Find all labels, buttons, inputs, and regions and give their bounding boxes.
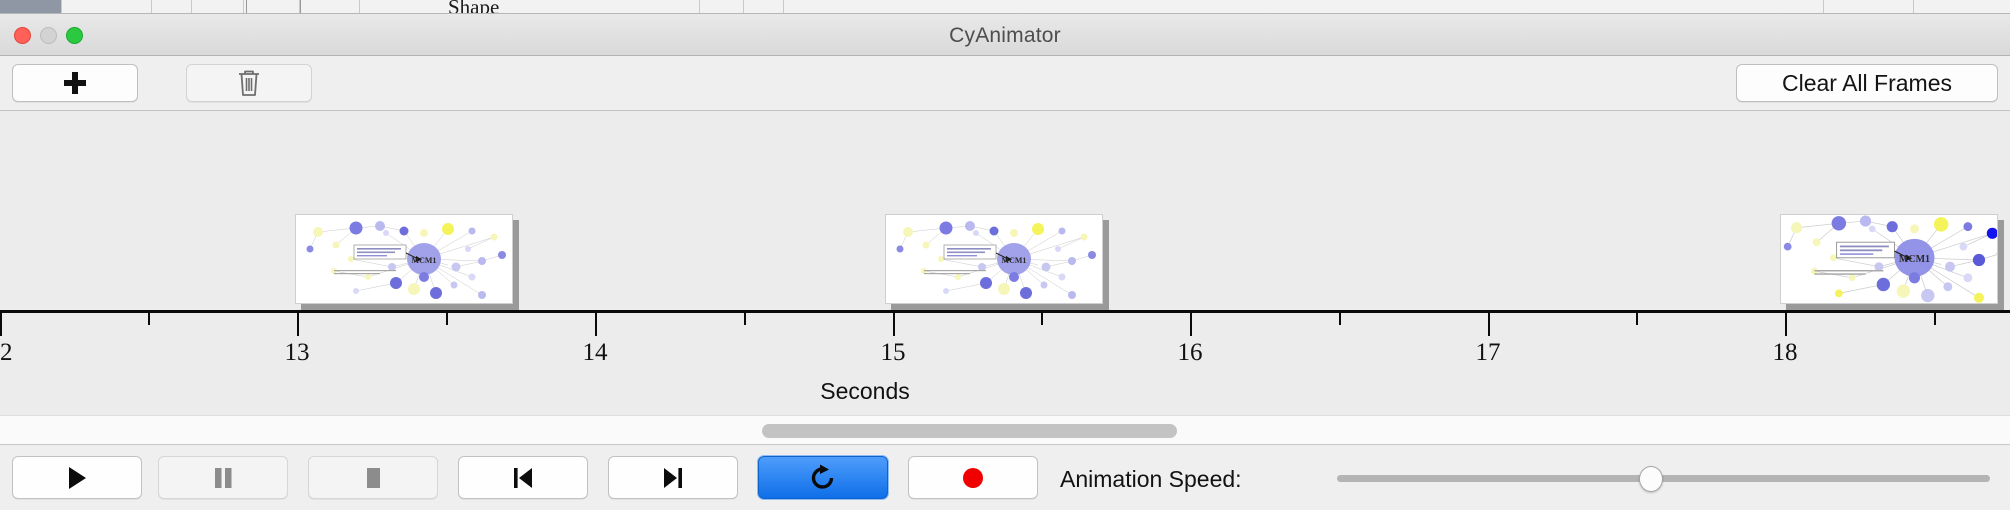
delete-frame-button[interactable] [186, 64, 312, 102]
frame-toolbar: Clear All Frames [0, 56, 2010, 111]
ruler-tick-major [297, 313, 299, 336]
animation-speed-label: Animation Speed: [1060, 466, 1242, 493]
timeline-frame-3[interactable]: MCM1 [1780, 214, 2004, 310]
ruler-axis-title: Seconds [820, 378, 910, 404]
pause-icon [211, 464, 235, 492]
add-frame-button[interactable] [12, 64, 138, 102]
timeline-horizontal-scrollbar[interactable] [0, 415, 2010, 445]
ruler-tick-minor [1339, 313, 1341, 325]
trash-icon [236, 68, 262, 98]
ruler-tick-major [0, 313, 2, 336]
stop-icon [361, 464, 385, 492]
play-icon [64, 464, 90, 492]
frame-thumbnail: MCM1 [885, 214, 1103, 304]
ruler-label-17: 17 [1476, 339, 1501, 367]
ruler-tick-minor [1636, 313, 1638, 325]
timeline-frame-1[interactable]: MCM1 [295, 214, 519, 310]
ruler-label-14: 14 [583, 339, 608, 367]
clear-all-frames-label: Clear All Frames [1782, 70, 1952, 97]
scrollbar-thumb[interactable] [762, 424, 1177, 438]
stop-button[interactable] [308, 456, 438, 499]
skip-start-button[interactable] [458, 456, 588, 499]
ruler-tick-major [893, 313, 895, 336]
background-window-label: Shape [448, 0, 499, 14]
hub-node-label: MCM1 [1002, 256, 1027, 265]
hub-node-label: MCM1 [1899, 254, 1930, 265]
ruler-label-15: 15 [881, 339, 906, 367]
ruler-tick-major [1190, 313, 1192, 336]
ruler-tick-minor [148, 313, 150, 325]
ruler-label-13: 13 [285, 339, 310, 367]
ruler-tick-major [595, 313, 597, 336]
ruler-tick-minor [1041, 313, 1043, 325]
hub-node-label: MCM1 [412, 256, 437, 265]
frame-thumbnail: MCM1 [295, 214, 513, 304]
skip-start-icon [510, 464, 536, 492]
ruler-tick-minor [744, 313, 746, 325]
ruler-label-12: 12 [0, 339, 13, 367]
ruler-tick-major [1488, 313, 1490, 336]
timeline-frame-2[interactable]: MCM1 [885, 214, 1109, 310]
background-window-strip: Shape [0, 0, 2010, 14]
timeline-ruler[interactable]: 12 13 14 15 16 17 18 Seconds [0, 310, 2010, 415]
play-button[interactable] [12, 456, 142, 499]
record-icon [959, 464, 987, 492]
skip-end-button[interactable] [608, 456, 738, 499]
ruler-label-16: 16 [1178, 339, 1203, 367]
window-title: CyAnimator [0, 24, 2010, 48]
skip-end-icon [660, 464, 686, 492]
animation-speed-slider-thumb[interactable] [1639, 466, 1663, 492]
ruler-axis-line [0, 310, 2010, 313]
window-titlebar: CyAnimator [0, 14, 2010, 56]
frame-thumbnail: MCM1 [1780, 214, 1998, 304]
plus-icon [64, 72, 86, 94]
ruler-axis-title-wrap: Seconds [0, 378, 2010, 405]
ruler-label-18: 18 [1773, 339, 1798, 367]
frames-stage[interactable]: MCM1 [0, 112, 2010, 310]
playback-controls-bar: Animation Speed: [0, 446, 2010, 510]
loop-icon [809, 463, 837, 493]
ruler-tick-minor [1934, 313, 1936, 325]
record-button[interactable] [908, 456, 1038, 499]
ruler-tick-minor [446, 313, 448, 325]
pause-button[interactable] [158, 456, 288, 499]
ruler-tick-major [1785, 313, 1787, 336]
clear-all-frames-button[interactable]: Clear All Frames [1736, 64, 1998, 102]
animation-speed-slider[interactable] [1337, 475, 1990, 482]
loop-button[interactable] [758, 456, 888, 499]
